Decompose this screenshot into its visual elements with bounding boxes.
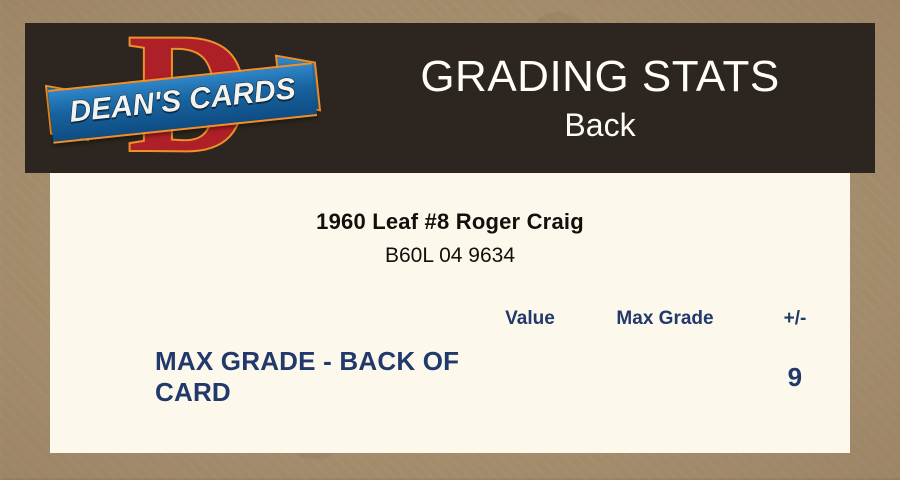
page-subtitle: Back xyxy=(564,105,635,145)
header-titles: GRADING STATS Back xyxy=(325,23,875,173)
deans-cards-logo[interactable]: D DEAN'S CARDS xyxy=(50,26,315,171)
card-code: B60L 04 9634 xyxy=(50,244,850,268)
row-max-grade xyxy=(590,338,740,408)
column-header-plus-minus: +/- xyxy=(740,308,850,338)
column-header-label xyxy=(50,308,470,338)
row-label: MAX GRADE - BACK OF CARD xyxy=(50,338,470,408)
table-header-row: Value Max Grade +/- xyxy=(50,308,850,338)
table-row: MAX GRADE - BACK OF CARD 9 xyxy=(50,338,850,408)
content-panel: 1960 Leaf #8 Roger Craig B60L 04 9634 Va… xyxy=(50,173,850,453)
page-title: GRADING STATS xyxy=(420,51,779,103)
card-title: 1960 Leaf #8 Roger Craig xyxy=(50,209,850,235)
column-header-value: Value xyxy=(470,308,590,338)
header-bar: D DEAN'S CARDS GRADING STATS Back xyxy=(25,23,875,173)
row-plus-minus: 9 xyxy=(740,338,850,408)
grading-stats-table: Value Max Grade +/- MAX GRADE - BACK OF … xyxy=(50,308,850,408)
row-value xyxy=(470,338,590,408)
column-header-max-grade: Max Grade xyxy=(590,308,740,338)
